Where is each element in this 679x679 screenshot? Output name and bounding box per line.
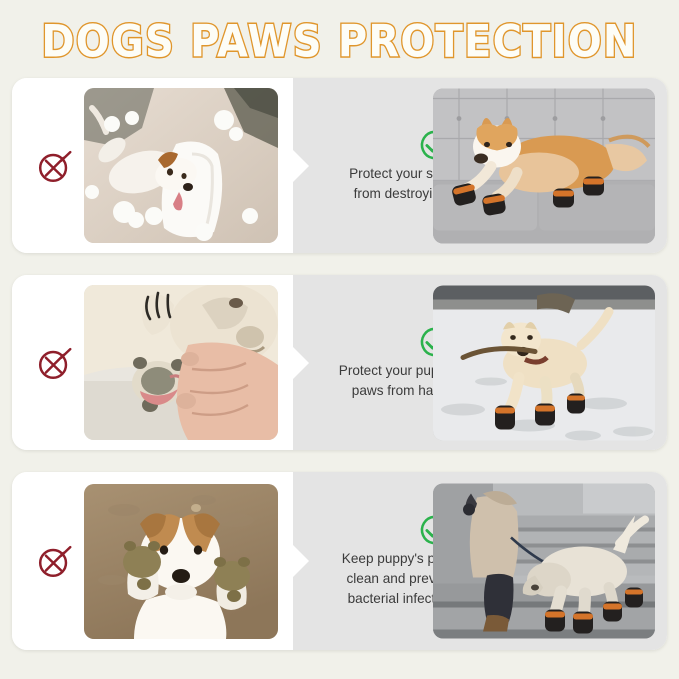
solution-panel: Keep puppy's paws clean and prevent bact… xyxy=(293,472,667,650)
circle-x-icon xyxy=(34,540,76,582)
chevron-right-icon xyxy=(292,544,309,578)
problem-panel xyxy=(12,275,293,450)
circle-x-icon xyxy=(34,145,76,187)
problem-photo-injured-paw xyxy=(84,285,278,440)
benefit-row-sofa: Protect your sofa from destroying xyxy=(12,78,667,253)
problem-photo-sofa xyxy=(84,88,278,243)
benefit-row-harm: Protect your puppy's paws from harm xyxy=(12,275,667,450)
solution-photo-sofa xyxy=(433,88,655,243)
header: DOGS PAWS PROTECTION xyxy=(0,0,679,78)
solution-panel: Protect your puppy's paws from harm xyxy=(293,275,667,450)
problem-panel xyxy=(12,472,293,650)
benefit-rows: Protect your sofa from destroying xyxy=(0,78,679,650)
circle-x-icon xyxy=(34,342,76,384)
problem-photo-muddy-paws xyxy=(84,484,278,639)
solution-photo-stairs xyxy=(433,484,655,639)
solution-panel: Protect your sofa from destroying xyxy=(293,78,667,253)
chevron-right-icon xyxy=(292,149,309,183)
solution-photo-snow xyxy=(433,285,655,440)
benefit-row-clean: Keep puppy's paws clean and prevent bact… xyxy=(12,472,667,650)
chevron-right-icon xyxy=(292,346,309,380)
problem-panel xyxy=(12,78,293,253)
page-title: DOGS PAWS PROTECTION xyxy=(41,16,637,68)
